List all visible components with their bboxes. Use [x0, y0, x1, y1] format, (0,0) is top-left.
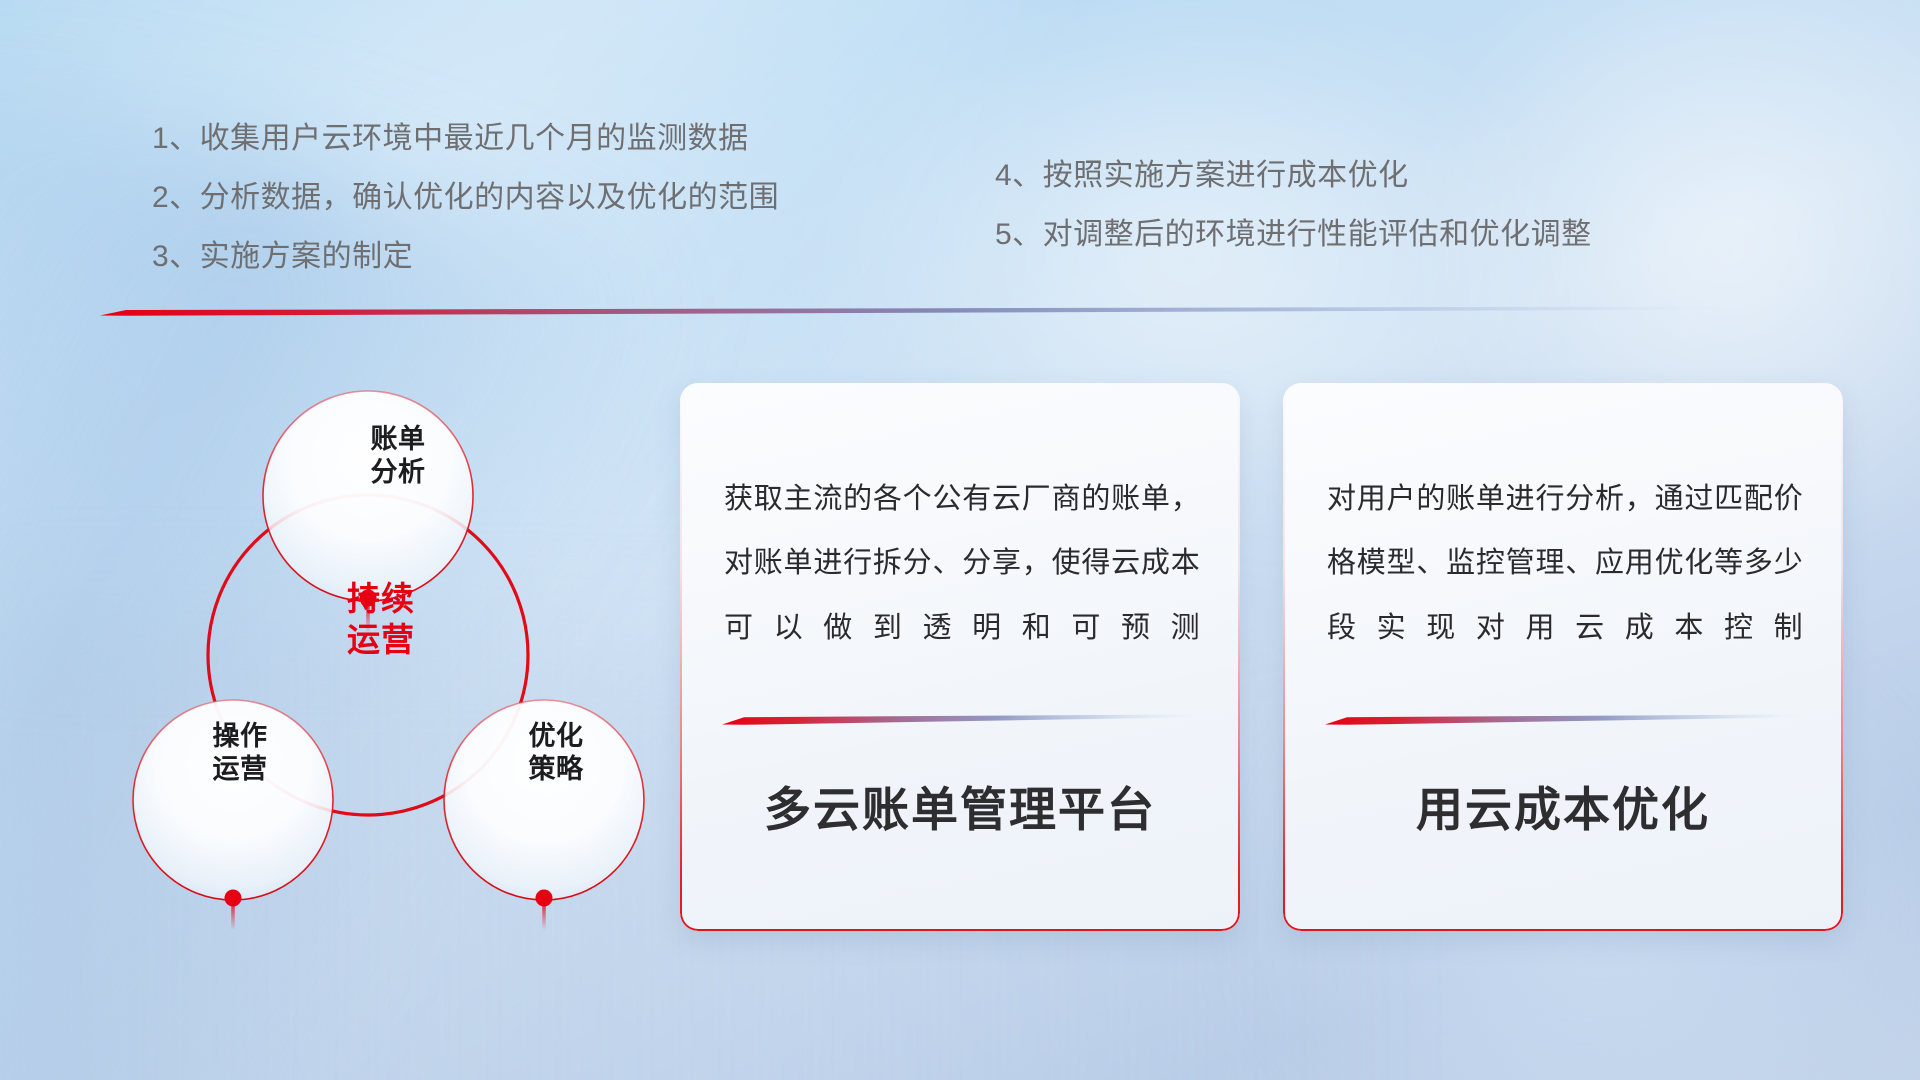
diagram-center-label: 持续 运营 — [296, 578, 466, 661]
steps-list-right: 4、按照实施方案进行成本优化 5、对调整后的环境进行性能评估和优化调整 — [995, 161, 1592, 250]
step-item-4: 4、按照实施方案进行成本优化 — [995, 161, 1592, 191]
section-divider — [100, 305, 1720, 317]
step-item-1: 1、收集用户云环境中最近几个月的监测数据 — [152, 124, 779, 154]
card-accent-rule — [722, 713, 1198, 726]
card-cloud-cost-optimization[interactable]: 对用户的账单进行分析，通过匹配价格模型、监控管理、应用优化等多少段实现对用云成本… — [1283, 383, 1843, 931]
diagram-node-label-bill-analysis: 账单 分析 — [328, 423, 468, 489]
card-body-text: 对用户的账单进行分析，通过匹配价格模型、监控管理、应用优化等多少段实现对用云成本… — [1327, 467, 1803, 660]
step-item-5: 5、对调整后的环境进行性能评估和优化调整 — [995, 220, 1592, 250]
card-multi-cloud-billing-platform[interactable]: 获取主流的各个公有云厂商的账单，对账单进行拆分、分享，使得云成本可以做到透明和可… — [680, 383, 1240, 931]
continuous-operation-diagram: 账单 分析 操作 运营 优化 策略 持续 运营 — [96, 348, 656, 948]
card-title: 用云成本优化 — [1283, 771, 1843, 840]
step-item-3: 3、实施方案的制定 — [152, 242, 779, 272]
card-accent-rule — [1325, 713, 1801, 726]
step-item-2: 2、分析数据，确认优化的内容以及优化的范围 — [152, 183, 779, 213]
card-title: 多云账单管理平台 — [680, 771, 1240, 840]
steps-list-left: 1、收集用户云环境中最近几个月的监测数据 2、分析数据，确认优化的内容以及优化的… — [152, 124, 779, 272]
diagram-node-label-operations: 操作 运营 — [170, 720, 310, 786]
connector-dot-right — [536, 890, 553, 907]
card-body-text: 获取主流的各个公有云厂商的账单，对账单进行拆分、分享，使得云成本可以做到透明和可… — [724, 467, 1200, 660]
slide-canvas: 1、收集用户云环境中最近几个月的监测数据 2、分析数据，确认优化的内容以及优化的… — [0, 0, 1920, 1080]
connector-dot-left — [225, 890, 242, 907]
diagram-node-label-optimization-strategy: 优化 策略 — [486, 720, 626, 786]
